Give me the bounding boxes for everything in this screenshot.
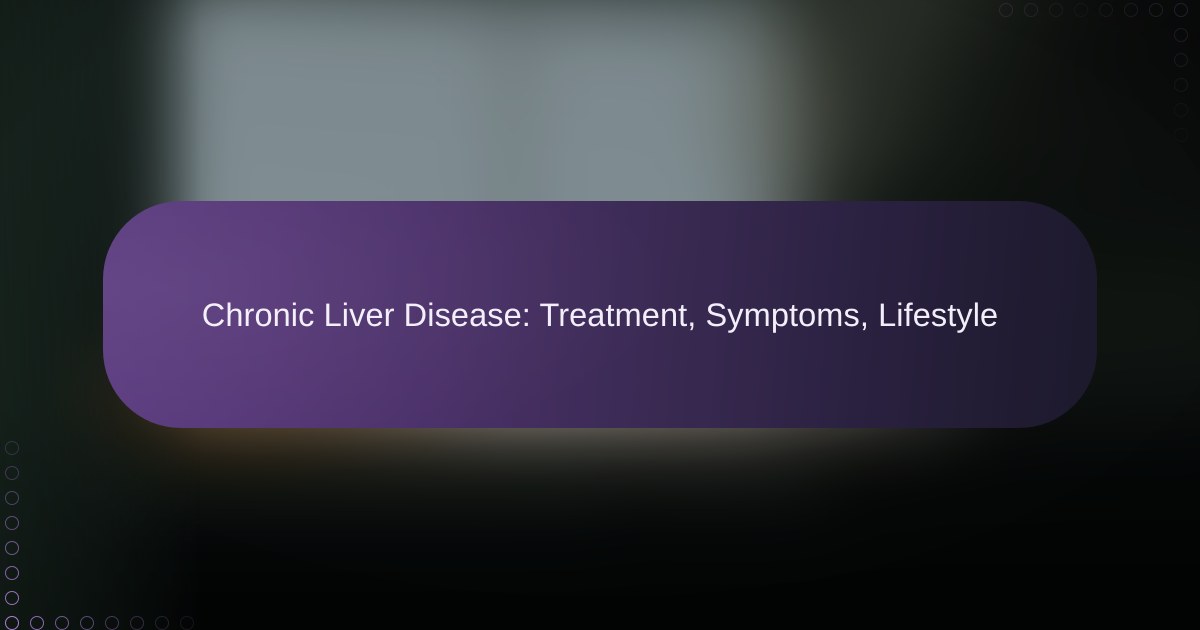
decorative-circle [155, 616, 169, 630]
decorative-circle [130, 616, 144, 630]
decorative-circle [1049, 3, 1063, 17]
social-share-card: Chronic Liver Disease: Treatment, Sympto… [0, 0, 1200, 630]
decorative-circle [5, 441, 19, 455]
decorative-circle [1174, 53, 1188, 67]
decorative-circle [55, 616, 69, 630]
decorative-circle [1174, 128, 1188, 142]
decorative-circle [1024, 3, 1038, 17]
decorative-circle [1124, 3, 1138, 17]
decorative-circle [5, 566, 19, 580]
dot-grid-bottom-left [0, 420, 220, 630]
decorative-circle [105, 616, 119, 630]
decorative-circle [1074, 3, 1088, 17]
decorative-circle [5, 516, 19, 530]
decorative-circle [999, 3, 1013, 17]
decorative-circle [80, 616, 94, 630]
decorative-circle [1174, 103, 1188, 117]
decorative-circle [1174, 28, 1188, 42]
dot-grid-top-right [980, 0, 1200, 210]
decorative-circle [1149, 3, 1163, 17]
decorative-circle [5, 491, 19, 505]
decorative-circle [5, 541, 19, 555]
decorative-circle [5, 616, 19, 630]
title-card: Chronic Liver Disease: Treatment, Sympto… [103, 201, 1097, 428]
decorative-circle [1174, 78, 1188, 92]
decorative-circle [5, 466, 19, 480]
page-title: Chronic Liver Disease: Treatment, Sympto… [190, 287, 1010, 343]
decorative-circle [5, 591, 19, 605]
decorative-circle [30, 616, 44, 630]
decorative-circle [1099, 3, 1113, 17]
decorative-circle [1174, 3, 1188, 17]
decorative-circle [180, 616, 194, 630]
